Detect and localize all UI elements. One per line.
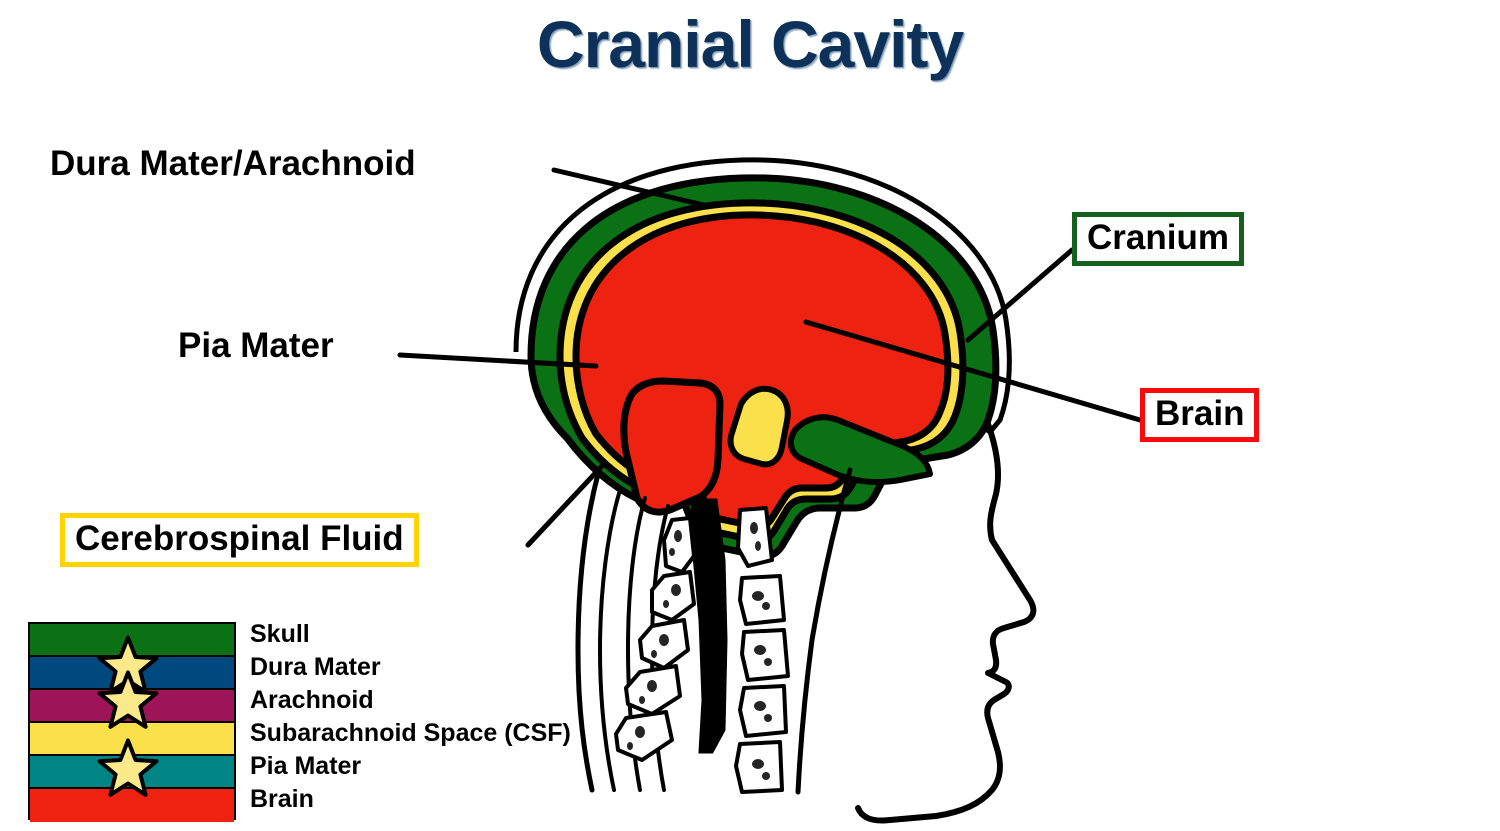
legend-item-label: Brain	[250, 783, 571, 816]
legend-label-column: SkullDura MaterArachnoidSubarachnoid Spa…	[250, 618, 571, 816]
legend-item-label: Dura Mater	[250, 651, 571, 684]
label-pia-mater: Pia Mater	[178, 328, 334, 363]
legend-item-label: Arachnoid	[250, 684, 571, 717]
legend-swatch	[30, 690, 234, 723]
legend-swatch	[30, 789, 234, 822]
cerebellum	[624, 381, 720, 512]
legend-swatch	[30, 657, 234, 690]
legend-item-label: Subarachnoid Space (CSF)	[250, 717, 571, 750]
spinal-cord	[692, 500, 726, 752]
anterior-neck-outline	[798, 470, 850, 792]
legend-item-label: Skull	[250, 618, 571, 651]
legend-swatch	[30, 723, 234, 756]
legend-swatch	[30, 624, 234, 657]
legend-swatch	[30, 756, 234, 789]
label-dura-mater-arachnoid: Dura Mater/Arachnoid	[50, 146, 416, 181]
label-cranium: Cranium	[1072, 212, 1244, 266]
legend-swatch-column	[28, 622, 236, 820]
legend-item-label: Pia Mater	[250, 750, 571, 783]
label-cerebrospinal-fluid: Cerebrospinal Fluid	[60, 513, 419, 567]
label-brain: Brain	[1140, 388, 1259, 442]
